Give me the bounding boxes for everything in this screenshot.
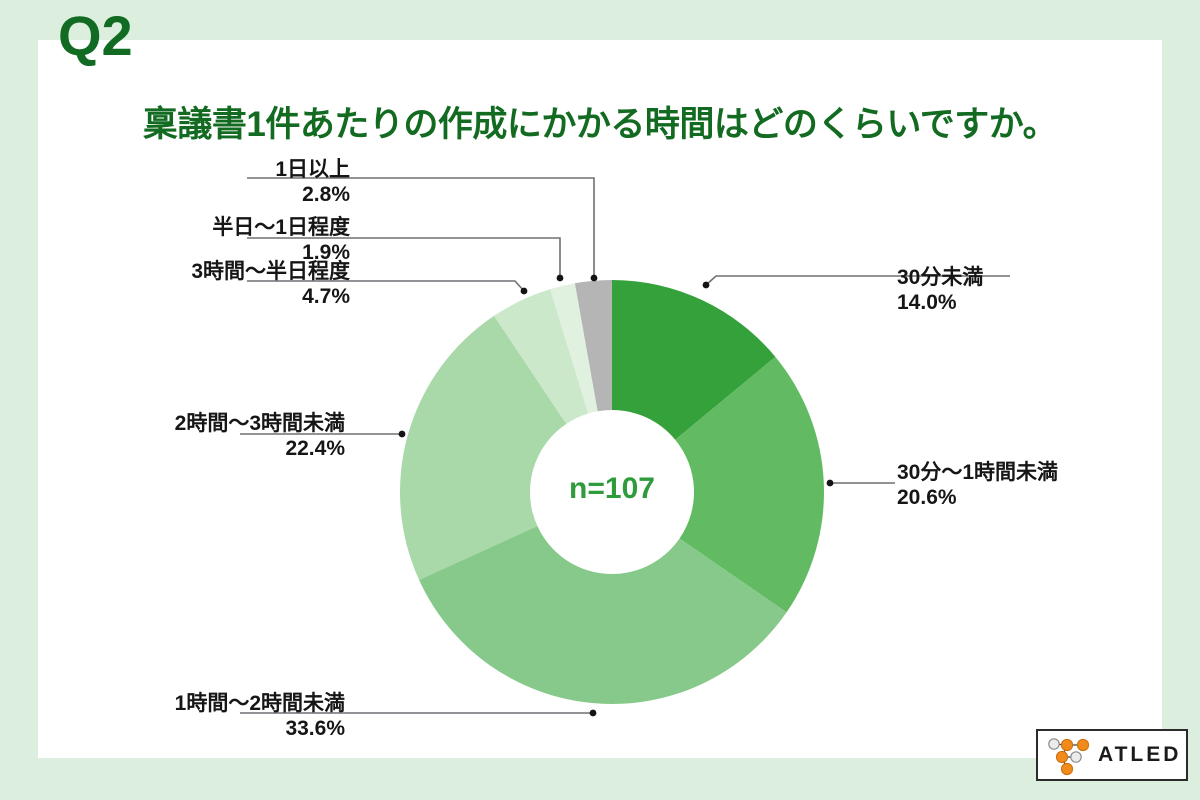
logo-node-orange-4 [1061,763,1072,774]
callout-30min-value: 14.0% [897,291,983,316]
callout-30min-label: 30分未満 [897,266,983,291]
logo-node-orange-3 [1056,751,1067,762]
leader-dot-30min-1h [827,480,834,487]
callout-2h: 2時間～3時間未満 22.4% [60,412,345,462]
callout-halfday-label: 半日～1日程度 [110,216,350,241]
callout-2h-label: 2時間～3時間未満 [60,412,345,437]
callout-2h-value: 22.4% [60,437,345,462]
callout-1h: 1時間～2時間未満 33.6% [60,692,345,742]
logo-node-orange-2 [1077,739,1088,750]
callout-1h-value: 33.6% [60,717,345,742]
sample-size-label: n=107 [512,472,712,506]
callout-30min-1h-label: 30分～1時間未満 [897,461,1058,486]
logo-node-grey-2 [1071,752,1081,762]
leader-dot-2h [399,431,406,438]
atled-wordmark: ATLED [1098,743,1181,767]
question-number: Q2 [58,8,133,64]
leader-dot-30min [703,282,710,289]
callout-30min-1h: 30分～1時間未満 20.6% [897,461,1058,511]
page-title: 稟議書1件あたりの作成にかかる時間はどのくらいですか。 [38,96,1162,147]
callout-1h-label: 1時間～2時間未満 [60,692,345,717]
leader-dot-3h [521,288,528,295]
callout-30min-1h-value: 20.6% [897,486,1058,511]
atled-logo-mark [1042,733,1096,777]
callout-3h: 3時間～半日程度 4.7% [100,260,350,310]
slide-canvas: Q2 稟議書1件あたりの作成にかかる時間はどのくらいですか。 [0,0,1200,800]
callout-1day-value: 2.8% [150,183,350,208]
logo-node-orange-1 [1061,739,1072,750]
callout-3h-label: 3時間～半日程度 [100,260,350,285]
atled-logo: ATLED [1036,729,1188,781]
callout-30min: 30分未満 14.0% [897,266,983,316]
callout-1day: 1日以上 2.8% [150,158,350,208]
callout-halfday: 半日～1日程度 1.9% [110,216,350,266]
callout-1day-label: 1日以上 [150,158,350,183]
logo-node-grey-1 [1049,739,1059,749]
leader-dot-1h [590,710,597,717]
callout-3h-value: 4.7% [100,285,350,310]
leader-dot-1day [591,275,598,282]
leader-dot-halfday [557,275,564,282]
